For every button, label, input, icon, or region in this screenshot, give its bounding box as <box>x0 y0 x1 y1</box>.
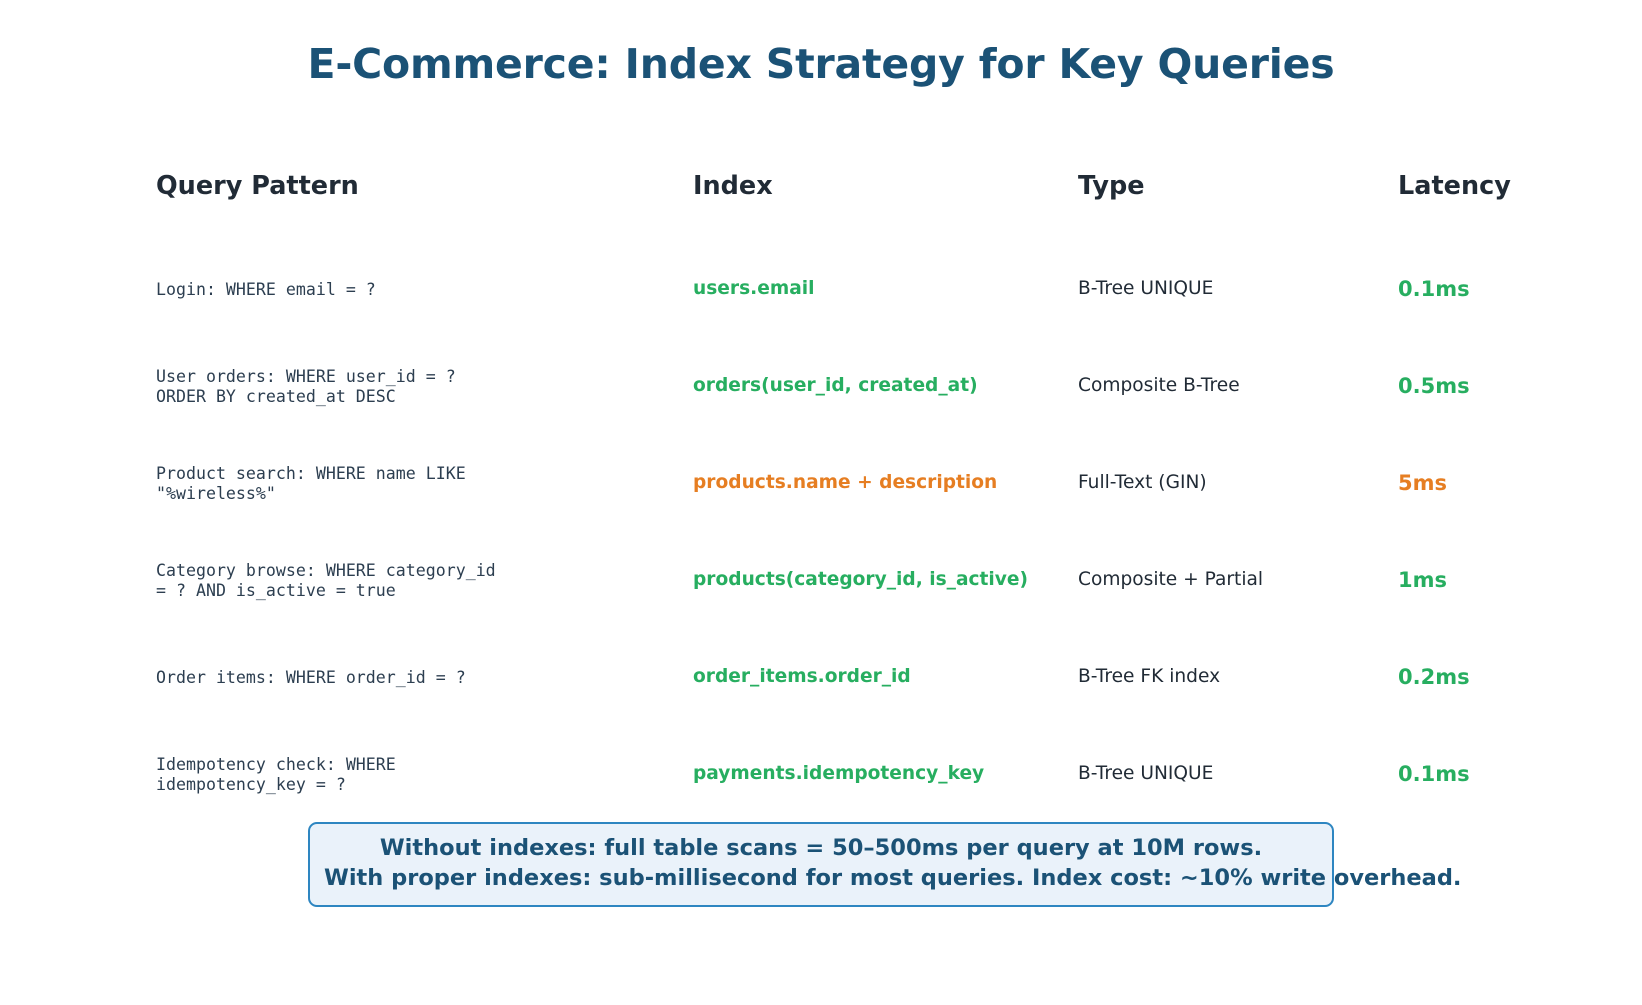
cell-query-pattern: Product search: WHERE name LIKE "%wirele… <box>156 464 693 503</box>
cell-latency: 0.1ms <box>1398 762 1578 787</box>
index-name-text: order_items.order_id <box>693 666 1078 688</box>
index-name-text: products.name + description <box>693 472 1078 494</box>
index-type-text: Composite B-Tree <box>1078 375 1398 397</box>
table-row: Login: WHERE email = ?users.emailB-Tree … <box>156 241 1486 338</box>
index-type-text: B-Tree FK index <box>1078 666 1398 688</box>
query-pattern-text: User orders: WHERE user_id = ? ORDER BY … <box>156 367 693 406</box>
column-header-index: Index <box>693 172 1078 200</box>
cell-index: payments.idempotency_key <box>693 763 1078 785</box>
cell-latency: 1ms <box>1398 568 1578 593</box>
latency-value-text: 5ms <box>1398 471 1578 496</box>
index-type-text: Full-Text (GIN) <box>1078 472 1398 494</box>
index-type-text: B-Tree UNIQUE <box>1078 763 1398 785</box>
index-type-text: Composite + Partial <box>1078 569 1398 591</box>
table-body: Login: WHERE email = ?users.emailB-Tree … <box>156 241 1486 823</box>
query-pattern-text: Product search: WHERE name LIKE "%wirele… <box>156 464 693 503</box>
summary-callout: Without indexes: full table scans = 50–5… <box>308 822 1334 907</box>
cell-type: Composite B-Tree <box>1078 375 1398 397</box>
cell-index: products(category_id, is_active) <box>693 569 1078 591</box>
callout-line-with-indexes: With proper indexes: sub-millisecond for… <box>324 864 1318 894</box>
index-name-text: payments.idempotency_key <box>693 763 1078 785</box>
cell-index: users.email <box>693 278 1078 300</box>
table-row: Product search: WHERE name LIKE "%wirele… <box>156 435 1486 532</box>
latency-value-text: 0.2ms <box>1398 665 1578 690</box>
cell-query-pattern: Category browse: WHERE category_id = ? A… <box>156 561 693 600</box>
query-pattern-text: Login: WHERE email = ? <box>156 280 693 299</box>
latency-value-text: 0.5ms <box>1398 374 1578 399</box>
callout-line-without-indexes: Without indexes: full table scans = 50–5… <box>324 834 1318 864</box>
cell-latency: 0.1ms <box>1398 277 1578 302</box>
cell-type: Composite + Partial <box>1078 569 1398 591</box>
index-name-text: orders(user_id, created_at) <box>693 375 1078 397</box>
cell-query-pattern: Order items: WHERE order_id = ? <box>156 668 693 687</box>
latency-value-text: 0.1ms <box>1398 762 1578 787</box>
query-pattern-text: Order items: WHERE order_id = ? <box>156 668 693 687</box>
latency-value-text: 0.1ms <box>1398 277 1578 302</box>
cell-query-pattern: Idempotency check: WHERE idempotency_key… <box>156 755 693 794</box>
cell-index: products.name + description <box>693 472 1078 494</box>
page-title: E-Commerce: Index Strategy for Key Queri… <box>0 40 1642 88</box>
cell-index: orders(user_id, created_at) <box>693 375 1078 397</box>
table-row: Idempotency check: WHERE idempotency_key… <box>156 726 1486 823</box>
cell-latency: 5ms <box>1398 471 1578 496</box>
latency-value-text: 1ms <box>1398 568 1578 593</box>
cell-index: order_items.order_id <box>693 666 1078 688</box>
cell-latency: 0.2ms <box>1398 665 1578 690</box>
cell-type: B-Tree FK index <box>1078 666 1398 688</box>
column-header-type: Type <box>1078 172 1398 200</box>
column-header-latency: Latency <box>1398 172 1578 200</box>
table-row: Category browse: WHERE category_id = ? A… <box>156 532 1486 629</box>
column-header-query-pattern: Query Pattern <box>156 172 693 200</box>
cell-query-pattern: User orders: WHERE user_id = ? ORDER BY … <box>156 367 693 406</box>
index-name-text: products(category_id, is_active) <box>693 569 1078 591</box>
index-name-text: users.email <box>693 278 1078 300</box>
query-pattern-text: Category browse: WHERE category_id = ? A… <box>156 561 693 600</box>
table-row: User orders: WHERE user_id = ? ORDER BY … <box>156 338 1486 435</box>
table-header-row: Query Pattern Index Type Latency <box>156 160 1486 212</box>
table-row: Order items: WHERE order_id = ?order_ite… <box>156 629 1486 726</box>
slide-canvas: E-Commerce: Index Strategy for Key Queri… <box>0 0 1642 1005</box>
cell-type: B-Tree UNIQUE <box>1078 278 1398 300</box>
index-type-text: B-Tree UNIQUE <box>1078 278 1398 300</box>
query-pattern-text: Idempotency check: WHERE idempotency_key… <box>156 755 693 794</box>
cell-type: B-Tree UNIQUE <box>1078 763 1398 785</box>
cell-type: Full-Text (GIN) <box>1078 472 1398 494</box>
index-strategy-table: Query Pattern Index Type Latency Login: … <box>156 160 1486 823</box>
cell-latency: 0.5ms <box>1398 374 1578 399</box>
cell-query-pattern: Login: WHERE email = ? <box>156 280 693 299</box>
